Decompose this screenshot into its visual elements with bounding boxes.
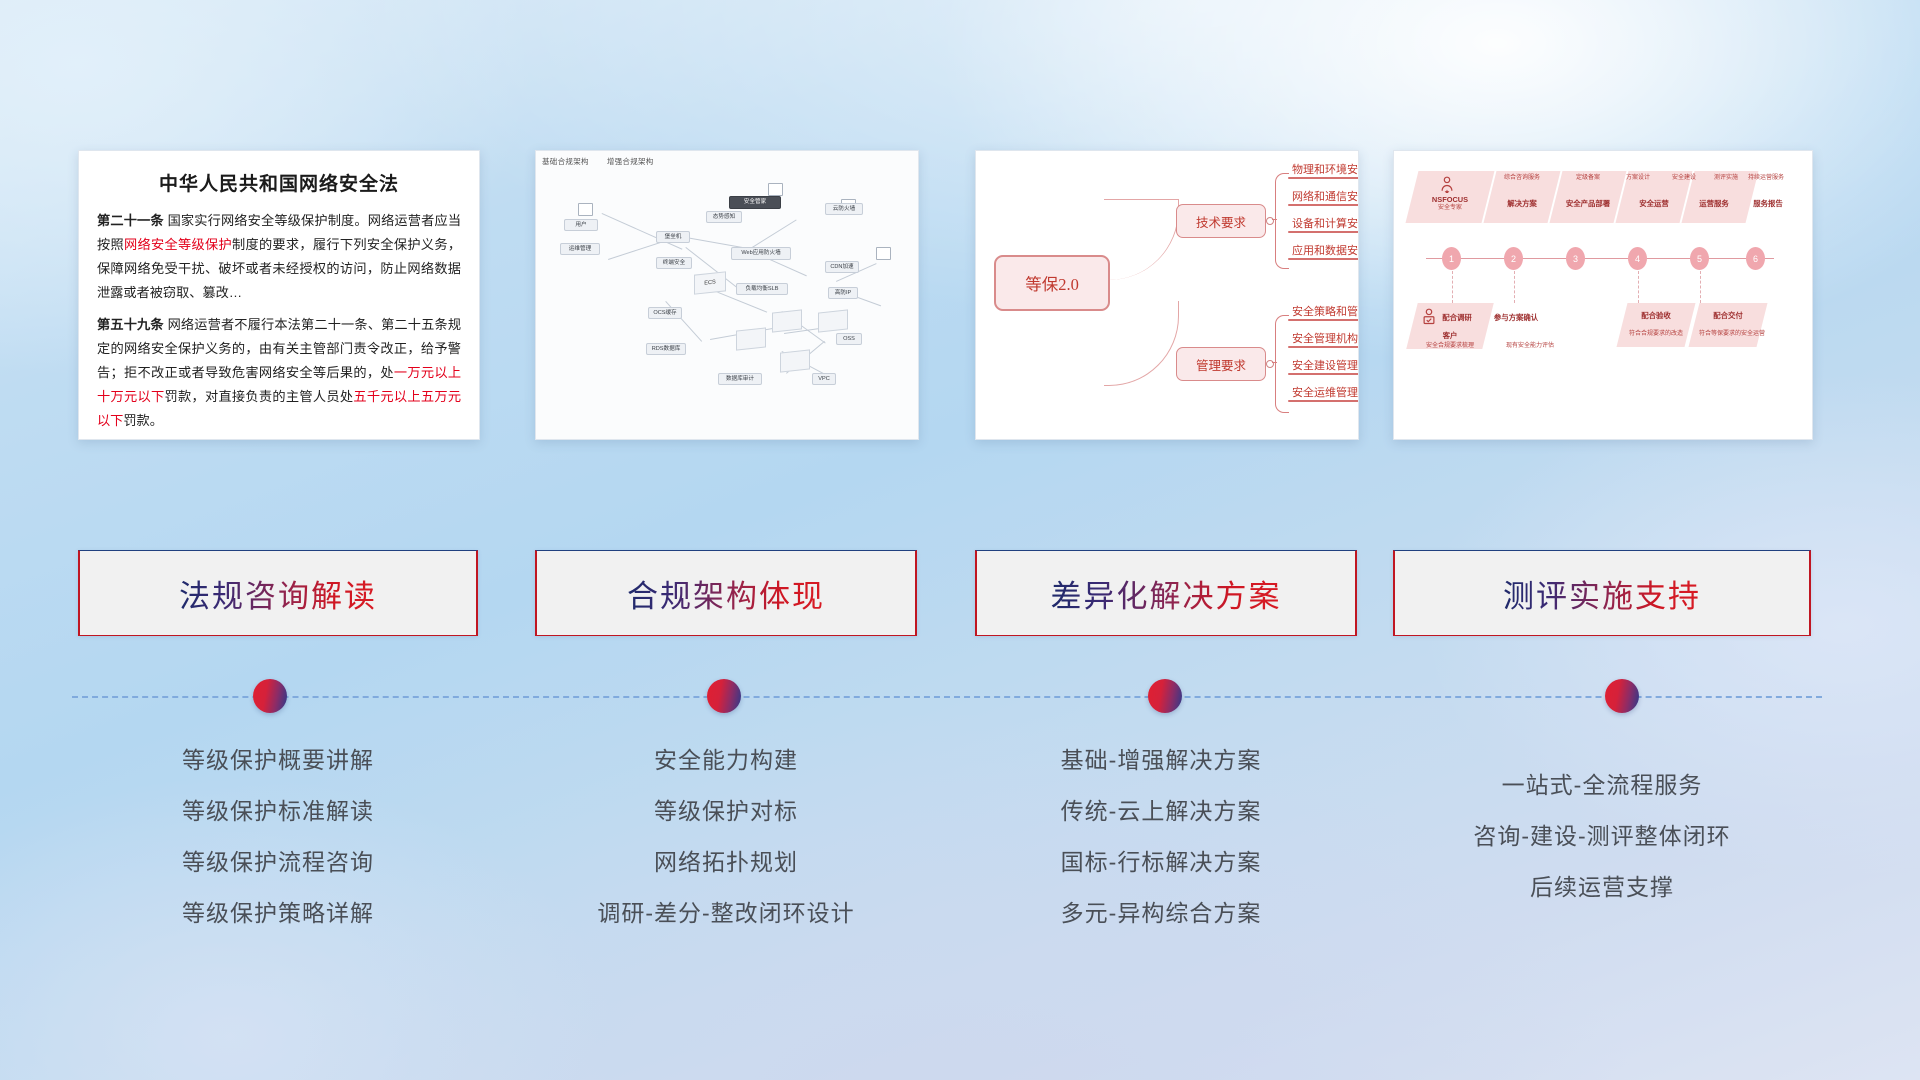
roadmap-bottom-sub: 安全合规要求梳理 (1412, 343, 1488, 351)
mindmap-branch-management: 管理要求 (1176, 347, 1266, 381)
arch-shape (772, 309, 802, 332)
arch-node-label: OSS (836, 333, 862, 345)
timeline-dot-1[interactable] (253, 679, 287, 713)
mindmap-leaf: 安全运维管理 (1292, 384, 1358, 400)
article-21-label: 第二十一条 (97, 213, 164, 228)
thumbnail-card-row: 中华人民共和国网络安全法 第二十一条 国家实行网络安全等级保护制度。网络运营者应… (0, 150, 1920, 440)
arch-icon-cloud (768, 183, 783, 196)
mindmap-leaf: 设备和计算安全 (1292, 215, 1359, 231)
article-59-text-b: 罚款，对直接负责的主管人员处 (164, 389, 353, 404)
roadmap-step-number: 3 (1566, 247, 1585, 270)
detail-column-2: 安全能力构建 等级保护对标 网络拓扑规划 调研-差分-整改闭环设计 (520, 735, 932, 939)
section-label-text-3: 差异化解决方案 (1051, 571, 1282, 616)
roadmap-dash-link (1638, 271, 1639, 303)
roadmap-dash-link (1452, 271, 1453, 303)
roadmap-step-number: 4 (1628, 247, 1647, 270)
mindmap-bracket (1275, 173, 1289, 269)
arch-node-label: 运维管理 (560, 243, 600, 255)
timeline-dot-3[interactable] (1148, 679, 1182, 713)
arch-node-label: 终端安全 (656, 257, 692, 269)
mindmap-canvas: 等保2.0 技术要求 物理和环境安全 网络和通信安全 设备和计算安全 应用和数据… (976, 151, 1358, 439)
timeline-dot-2[interactable] (707, 679, 741, 713)
page-root: 中华人民共和国网络安全法 第二十一条 国家实行网络安全等级保护制度。网络运营者应… (0, 0, 1920, 1080)
mindmap-connector (1104, 301, 1179, 386)
roadmap-expert-role: 安全专家 (1412, 205, 1488, 213)
roadmap-step-number: 5 (1690, 247, 1709, 270)
arch-node-label: RDS数据库 (646, 343, 686, 355)
list-item: 多元-异构综合方案 (955, 888, 1367, 939)
arch-node-label: Web应用防火墙 (731, 247, 791, 260)
arch-node-label: 态势感知 (706, 211, 742, 223)
mindmap-underline (1288, 373, 1359, 375)
mindmap-leaf: 安全管理机构和人员 (1292, 330, 1359, 346)
list-item: 国标-行标解决方案 (955, 837, 1367, 888)
roadmap-bottom-label: 参与方案确认 (1486, 313, 1546, 322)
list-item: 一站式-全流程服务 (1380, 760, 1824, 811)
section-label-text-2: 合规架构体现 (627, 571, 825, 616)
roadmap-dash-link (1700, 271, 1701, 303)
mindmap-leaf: 物理和环境安全 (1292, 161, 1359, 177)
mindmap-root-node: 等保2.0 (994, 255, 1110, 311)
article-21-highlight: 网络安全等级保护 (124, 237, 232, 252)
list-item: 安全能力构建 (520, 735, 932, 786)
list-item: 传统-云上解决方案 (955, 786, 1367, 837)
detail-column-1: 等级保护概要讲解 等级保护标准解读 等级保护流程咨询 等级保护策略详解 (78, 735, 478, 939)
section-label-box-2[interactable]: 合规架构体现 (535, 550, 917, 636)
mindmap-underline (1288, 400, 1359, 402)
mindmap-connector (1272, 362, 1277, 363)
arch-node-label: 高防IP (828, 287, 858, 299)
arch-shape (736, 327, 766, 350)
arch-shape (818, 309, 848, 332)
list-item: 调研-差分-整改闭环设计 (520, 888, 932, 939)
list-item: 网络拓扑规划 (520, 837, 932, 888)
section-label-text-4: 测评实施支持 (1503, 571, 1701, 616)
mindmap-bracket (1275, 315, 1289, 413)
mindmap-underline (1288, 258, 1359, 260)
roadmap-customer-label: 客户 (1412, 331, 1488, 340)
arch-icon-node (876, 247, 891, 260)
list-item: 后续运营支撑 (1380, 862, 1824, 913)
list-item: 基础-增强解决方案 (955, 735, 1367, 786)
roadmap-band-label: 解决方案 (1490, 199, 1554, 208)
section-label-box-1[interactable]: 法规咨询解读 (78, 550, 478, 636)
arch-node-label: 数据库审计 (718, 373, 762, 385)
mindmap-underline (1288, 346, 1359, 348)
architecture-header-left: 基础合规架构 (542, 157, 589, 166)
law-article-59: 第五十九条 网络运营者不履行本法第二十一条、第二十五条规定的网络安全保护义务的，… (97, 313, 461, 433)
card-architecture-diagram[interactable]: 基础合规架构增强合规架构 (535, 150, 919, 440)
roadmap-band-label: 服务报告 (1736, 199, 1800, 208)
mindmap-leaf: 网络和通信安全 (1292, 188, 1359, 204)
roadmap-top-step: 综合咨询服务 (1490, 175, 1554, 183)
roadmap-expert-name: NSFOCUS (1412, 195, 1488, 204)
section-label-text-1: 法规咨询解读 (179, 571, 377, 616)
arch-node-label: OCS缓存 (648, 307, 682, 319)
article-59-text-c: 罚款。 (123, 413, 163, 428)
mindmap-leaf: 应用和数据安全 (1292, 242, 1359, 258)
detail-column-4: 一站式-全流程服务 咨询-建设-测评整体闭环 后续运营支撑 (1380, 760, 1824, 913)
arch-node-label: ECS (694, 271, 726, 294)
roadmap-step-number: 2 (1504, 247, 1523, 270)
detail-column-row: 等级保护概要讲解 等级保护标准解读 等级保护流程咨询 等级保护策略详解 安全能力… (0, 735, 1920, 975)
article-59-label: 第五十九条 (97, 317, 164, 332)
arch-shape (780, 349, 810, 372)
detail-column-3: 基础-增强解决方案 传统-云上解决方案 国标-行标解决方案 多元-异构综合方案 (955, 735, 1367, 939)
mindmap-underline (1288, 204, 1359, 206)
roadmap-canvas: NSFOCUS 安全专家 综合咨询服务 定级备案 方案设计 安全建设 测评实施 … (1394, 151, 1812, 439)
roadmap-top-step: 持续运营服务 (1734, 175, 1798, 183)
expert-person-icon (1438, 175, 1456, 193)
arch-node-label: VPC (812, 373, 836, 385)
card-law-document[interactable]: 中华人民共和国网络安全法 第二十一条 国家实行网络安全等级保护制度。网络运营者应… (78, 150, 480, 440)
roadmap-band-label: 安全产品部署 (1556, 199, 1620, 208)
mindmap-leaf: 安全策略和管理制度 (1292, 303, 1359, 319)
section-label-box-4[interactable]: 测评实施支持 (1393, 550, 1811, 636)
arch-link (752, 219, 797, 247)
roadmap-band-label: 安全运营 (1622, 199, 1686, 208)
arch-node-label: 安全管家 (729, 196, 781, 209)
architecture-header-right: 增强合规架构 (607, 157, 654, 166)
mindmap-connector (1104, 199, 1179, 280)
list-item: 等级保护概要讲解 (78, 735, 478, 786)
timeline-dashed-line (72, 696, 1822, 698)
roadmap-step-number: 6 (1746, 247, 1765, 270)
list-item: 等级保护流程咨询 (78, 837, 478, 888)
card-service-roadmap[interactable]: NSFOCUS 安全专家 综合咨询服务 定级备案 方案设计 安全建设 测评实施 … (1393, 150, 1813, 440)
law-article-21: 第二十一条 国家实行网络安全等级保护制度。网络运营者应当按照网络安全等级保护制度… (97, 209, 461, 305)
list-item: 等级保护对标 (520, 786, 932, 837)
arch-node-label: CDN加速 (825, 261, 859, 273)
mindmap-branch-technical: 技术要求 (1176, 204, 1266, 238)
section-label-box-3[interactable]: 差异化解决方案 (975, 550, 1357, 636)
arch-icon-user (578, 203, 593, 216)
mindmap-connector (1272, 219, 1277, 220)
card-mindmap[interactable]: 等保2.0 技术要求 物理和环境安全 网络和通信安全 设备和计算安全 应用和数据… (975, 150, 1359, 440)
roadmap-bottom-sub: 符合等保要求的安全运营 (1690, 331, 1774, 339)
roadmap-bottom-band (1689, 303, 1768, 347)
mindmap-underline (1288, 177, 1359, 179)
arch-node-label: 云防火墙 (825, 203, 863, 215)
law-title: 中华人民共和国网络安全法 (97, 169, 461, 196)
roadmap-bottom-sub: 现有安全能力评估 (1490, 343, 1570, 351)
roadmap-bottom-label: 配合调研 (1432, 313, 1482, 322)
timeline-dot-4[interactable] (1605, 679, 1639, 713)
list-item: 等级保护标准解读 (78, 786, 478, 837)
roadmap-bottom-label: 配合验收 (1622, 311, 1690, 320)
law-document-body: 中华人民共和国网络安全法 第二十一条 国家实行网络安全等级保护制度。网络运营者应… (79, 151, 479, 439)
section-label-row: 法规咨询解读 合规架构体现 差异化解决方案 测评实施支持 (0, 550, 1920, 640)
mindmap-underline (1288, 319, 1359, 321)
timeline (0, 660, 1920, 720)
roadmap-bottom-sub: 符合合规要求的改造 (1616, 331, 1696, 339)
roadmap-axis (1426, 258, 1774, 259)
architecture-canvas: 基础合规架构增强合规架构 (536, 151, 918, 439)
arch-node-label: 堡垒机 (656, 231, 690, 243)
roadmap-dash-link (1514, 271, 1515, 303)
roadmap-step-number: 1 (1442, 247, 1461, 270)
architecture-header: 基础合规架构增强合规架构 (542, 156, 672, 167)
mindmap-underline (1288, 231, 1359, 233)
roadmap-bottom-label: 配合交付 (1694, 311, 1762, 320)
list-item: 等级保护策略详解 (78, 888, 478, 939)
roadmap-bottom-band (1617, 303, 1696, 347)
arch-node-label: 负载均衡SLB (736, 283, 788, 295)
list-item: 咨询-建设-测评整体闭环 (1380, 811, 1824, 862)
arch-node-label: 用户 (564, 219, 598, 231)
mindmap-leaf: 安全建设管理 (1292, 357, 1358, 373)
